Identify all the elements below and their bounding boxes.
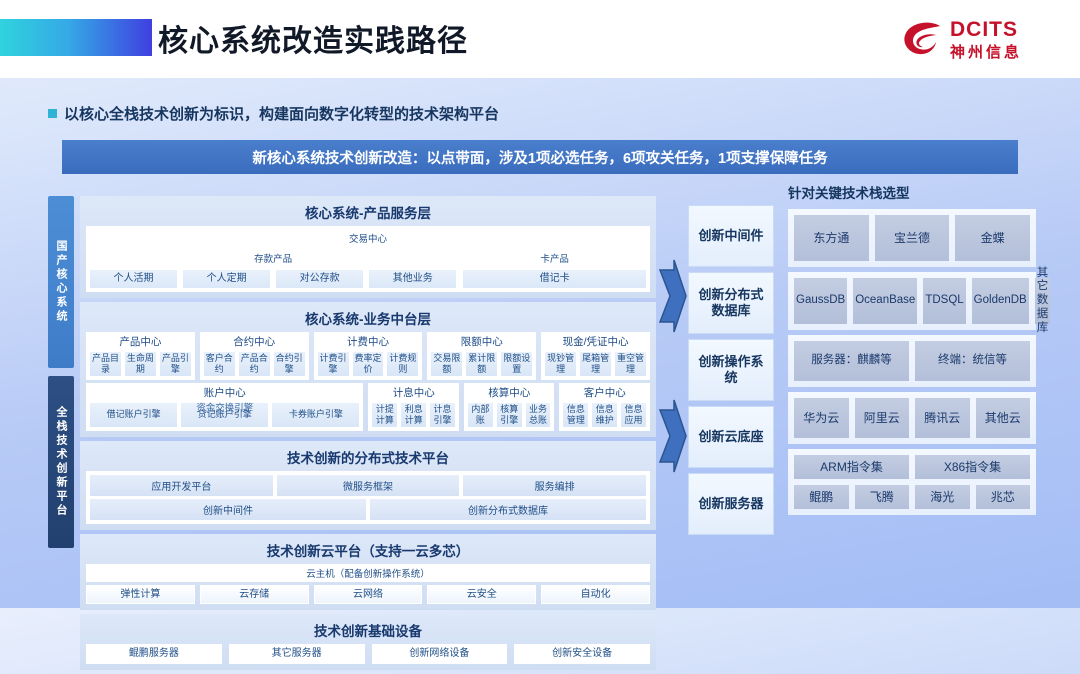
- middleware-vendor[interactable]: 宝兰德: [875, 215, 950, 261]
- center-item[interactable]: 借记账户引擎: [89, 402, 178, 428]
- innovation-column: 创新中间件 创新分布式数据库 创新操作系统 创新云底座 创新服务器: [688, 205, 774, 540]
- card-product-group: 卡产品 借记卡: [462, 249, 647, 289]
- center-name: 客户中心: [562, 385, 647, 400]
- innovation-item-database[interactable]: 创新分布式数据库: [688, 272, 774, 334]
- center-card-interest[interactable]: 计息中心 计提计算 利息计算 计息引擎: [368, 383, 459, 431]
- infrastructure-item[interactable]: 创新网络设备: [372, 644, 508, 664]
- database-vendor[interactable]: GaussDB: [794, 278, 847, 324]
- infrastructure-item[interactable]: 创新安全设备: [514, 644, 650, 664]
- card-group-label: 卡产品: [462, 249, 647, 267]
- cloud-vendor[interactable]: 华为云: [794, 398, 849, 438]
- center-item[interactable]: 重空管理: [614, 351, 647, 377]
- center-name: 计费中心: [317, 334, 420, 349]
- infrastructure-layer: 技术创新基础设备 鲲鹏服务器 其它服务器 创新网络设备 创新安全设备: [80, 614, 656, 670]
- header-gradient-bar: [0, 19, 152, 56]
- tech-platform-item[interactable]: 创新中间件: [90, 499, 366, 520]
- deposit-item[interactable]: 个人定期: [182, 269, 271, 289]
- architecture-panel: 国产核心系统 全栈技术创新平台 核心系统-产品服务层 交易中心 存款产品 个人活…: [48, 196, 656, 548]
- center-item[interactable]: 现钞管理: [544, 351, 577, 377]
- center-item[interactable]: 信息应用: [620, 402, 647, 428]
- distributed-tech-platform-title: 技术创新的分布式技术平台: [86, 447, 650, 467]
- center-item[interactable]: 累计限额: [465, 351, 498, 377]
- cloud-panel: 华为云 阿里云 腾讯云 其他云: [788, 392, 1036, 444]
- side-label-fullstack-platform: 全栈技术创新平台: [48, 376, 74, 548]
- product-service-layer: 核心系统-产品服务层 交易中心 存款产品 个人活期 个人定期 对公存款 其他业务: [80, 196, 656, 298]
- cloud-vendor[interactable]: 阿里云: [855, 398, 910, 438]
- business-middle-layer: 核心系统-业务中台层 产品中心 产品目录 生命周期 产品引擎 合约中心 客户合约…: [80, 302, 656, 437]
- distributed-tech-platform: 技术创新的分布式技术平台 应用开发平台 微服务框架 服务编排 创新中间件 创新分…: [80, 441, 656, 530]
- banner-text: 新核心系统技术创新改造：以点带面，涉及1项必选任务，6项攻关任务，1项支撑保障任…: [252, 147, 827, 168]
- logo-text-en: DCITS: [950, 18, 1018, 42]
- card-item[interactable]: 借记卡: [462, 269, 647, 289]
- innovation-item-server[interactable]: 创新服务器: [688, 473, 774, 535]
- center-card-contract[interactable]: 合约中心 客户合约 产品合约 合约引擎: [200, 332, 309, 380]
- innovation-item-middleware[interactable]: 创新中间件: [688, 205, 774, 267]
- business-middle-layer-title: 核心系统-业务中台层: [86, 308, 650, 328]
- cloud-platform: 技术创新云平台（支持一云多芯） 云主机（配备创新操作系统） 弹性计算 云存储 云…: [80, 534, 656, 611]
- center-item[interactable]: 产品目录: [89, 351, 122, 377]
- dcits-logo: DCITS 神州信息: [902, 17, 1042, 63]
- infrastructure-title: 技术创新基础设备: [86, 620, 650, 640]
- transaction-center-label: 交易中心: [89, 229, 647, 247]
- center-item[interactable]: 交易限额: [430, 351, 463, 377]
- center-item[interactable]: 计息引擎: [429, 402, 456, 428]
- centers-row-1: 产品中心 产品目录 生命周期 产品引擎 合约中心 客户合约 产品合约 合约引擎: [86, 332, 650, 380]
- instruction-set-arm[interactable]: ARM指令集: [794, 455, 909, 479]
- bullet-square-icon: [48, 109, 57, 118]
- tech-platform-item[interactable]: 应用开发平台: [90, 475, 273, 496]
- page-header: 核心系统改造实践路径 DCITS 神州信息: [0, 0, 1080, 78]
- center-item[interactable]: 计费引擎: [317, 351, 350, 377]
- database-vendor[interactable]: OceanBase: [853, 278, 917, 324]
- subtitle-bullet-row: 以核心全栈技术创新为标识，构建面向数字化转型的技术架构平台: [48, 103, 499, 124]
- page-title: 核心系统改造实践路径: [158, 16, 468, 60]
- center-name: 现金/凭证中心: [544, 334, 647, 349]
- cloud-item[interactable]: 自动化: [541, 585, 650, 605]
- os-panel: 服务器：麒麟等 终端：统信等: [788, 335, 1036, 387]
- center-item[interactable]: 业务总账: [525, 402, 552, 428]
- arrow-right-lower-icon: [658, 398, 688, 474]
- center-name: 产品中心: [89, 334, 192, 349]
- chip-vendor[interactable]: 海光: [915, 485, 970, 509]
- centers-row-2: 账户中心 借记账户引擎 贷记账户引擎 卡券账户引擎 资金交换引擎 计息中心 计提…: [86, 383, 650, 431]
- center-name: 限额中心: [430, 334, 533, 349]
- logo-text-cn: 神州信息: [950, 41, 1022, 62]
- chip-vendor[interactable]: 兆芯: [976, 485, 1031, 509]
- deposit-product-group: 存款产品 个人活期 个人定期 对公存款 其他业务: [89, 249, 457, 289]
- tech-platform-item[interactable]: 服务编排: [463, 475, 646, 496]
- center-item[interactable]: 费率定价: [352, 351, 385, 377]
- center-item[interactable]: 贷记账户引擎: [180, 402, 269, 428]
- logo-swoosh-icon: [902, 20, 944, 60]
- center-item[interactable]: 生命周期: [124, 351, 157, 377]
- center-card-limit[interactable]: 限额中心 交易限额 累计限额 限额设置: [427, 332, 536, 380]
- deposit-group-label: 存款产品: [89, 249, 457, 267]
- database-vendor[interactable]: GoldenDB: [972, 278, 1029, 324]
- center-item[interactable]: 卡券账户引擎: [271, 402, 360, 428]
- deposit-item[interactable]: 对公存款: [275, 269, 364, 289]
- deposit-item[interactable]: 其他业务: [368, 269, 457, 289]
- cloud-item[interactable]: 云网络: [314, 585, 423, 605]
- deposit-item[interactable]: 个人活期: [89, 269, 178, 289]
- os-vendor-server[interactable]: 服务器：麒麟等: [794, 341, 909, 381]
- middleware-panel: 东方通 宝兰德 金蝶: [788, 209, 1036, 267]
- cloud-host-label: 云主机（配备创新操作系统）: [86, 564, 650, 582]
- innovation-item-os[interactable]: 创新操作系统: [688, 339, 774, 401]
- center-name: 核算中心: [467, 385, 552, 400]
- center-item[interactable]: 产品引擎: [159, 351, 192, 377]
- instruction-set-x86[interactable]: X86指令集: [915, 455, 1030, 479]
- center-item[interactable]: 内部账: [467, 402, 494, 428]
- center-item[interactable]: 信息维护: [591, 402, 618, 428]
- cloud-platform-title: 技术创新云平台（支持一云多芯）: [86, 540, 650, 560]
- cloud-vendor[interactable]: 腾讯云: [915, 398, 970, 438]
- cloud-item[interactable]: 云安全: [427, 585, 536, 605]
- center-card-account[interactable]: 账户中心 借记账户引擎 贷记账户引擎 卡券账户引擎 资金交换引擎: [86, 383, 363, 431]
- product-service-layer-title: 核心系统-产品服务层: [86, 202, 650, 222]
- side-label-domestic-core: 国产核心系统: [48, 196, 74, 368]
- center-item[interactable]: 尾箱管理: [579, 351, 612, 377]
- center-item[interactable]: 核算引擎: [496, 402, 523, 428]
- database-panel: GaussDB OceanBase TDSQL GoldenDB 其它数据库: [788, 272, 1036, 330]
- center-item[interactable]: 信息管理: [562, 402, 589, 428]
- highlight-banner: 新核心系统技术创新改造：以点带面，涉及1项必选任务，6项攻关任务，1项支撑保障任…: [62, 140, 1018, 174]
- os-vendor-terminal[interactable]: 终端：统信等: [915, 341, 1030, 381]
- tech-platform-item[interactable]: 创新分布式数据库: [370, 499, 646, 520]
- middleware-vendor[interactable]: 金蝶: [955, 215, 1030, 261]
- infrastructure-item[interactable]: 鲲鹏服务器: [86, 644, 222, 664]
- tech-platform-item[interactable]: 微服务框架: [277, 475, 460, 496]
- cloud-item[interactable]: 弹性计算: [86, 585, 195, 605]
- infrastructure-item[interactable]: 其它服务器: [229, 644, 365, 664]
- center-item[interactable]: 计费规则: [386, 351, 419, 377]
- tech-stack-column: 针对关键技术栈选型 东方通 宝兰德 金蝶 GaussDB OceanBase T…: [788, 182, 1036, 520]
- center-item[interactable]: 利息计算: [400, 402, 427, 428]
- middleware-vendor[interactable]: 东方通: [794, 215, 869, 261]
- center-card-accounting[interactable]: 核算中心 内部账 核算引擎 业务总账: [464, 383, 555, 431]
- tech-stack-title: 针对关键技术栈选型: [788, 182, 1036, 202]
- subtitle-text: 以核心全栈技术创新为标识，构建面向数字化转型的技术架构平台: [64, 103, 499, 124]
- center-name: 计息中心: [371, 385, 456, 400]
- chip-vendor[interactable]: 飞腾: [855, 485, 910, 509]
- center-item[interactable]: 合约引擎: [273, 351, 306, 377]
- center-item[interactable]: 限额设置: [500, 351, 533, 377]
- database-vendor[interactable]: 其它数据库: [1035, 278, 1051, 324]
- cloud-item[interactable]: 云存储: [200, 585, 309, 605]
- product-service-layer-body: 交易中心 存款产品 个人活期 个人定期 对公存款 其他业务 卡产品: [86, 226, 650, 292]
- arrow-right-upper-icon: [658, 258, 688, 334]
- database-vendor[interactable]: TDSQL: [923, 278, 965, 324]
- chip-panel: ARM指令集 X86指令集 鲲鹏 飞腾 海光 兆芯: [788, 449, 1036, 515]
- architecture-body: 核心系统-产品服务层 交易中心 存款产品 个人活期 个人定期 对公存款 其他业务: [80, 196, 656, 674]
- center-item[interactable]: 产品合约: [238, 351, 271, 377]
- chip-vendor[interactable]: 鲲鹏: [794, 485, 849, 509]
- innovation-item-cloud[interactable]: 创新云底座: [688, 406, 774, 468]
- center-card-customer[interactable]: 客户中心 信息管理 信息维护 信息应用: [559, 383, 650, 431]
- center-name: 账户中心: [89, 385, 360, 400]
- center-name: 合约中心: [203, 334, 306, 349]
- distributed-tech-platform-body: 应用开发平台 微服务框架 服务编排 创新中间件 创新分布式数据库: [86, 471, 650, 524]
- center-card-billing[interactable]: 计费中心 计费引擎 费率定价 计费规则: [314, 332, 423, 380]
- center-card-cash-voucher[interactable]: 现金/凭证中心 现钞管理 尾箱管理 重空管理: [541, 332, 650, 380]
- center-card-product[interactable]: 产品中心 产品目录 生命周期 产品引擎: [86, 332, 195, 380]
- cloud-vendor[interactable]: 其他云: [976, 398, 1031, 438]
- center-item[interactable]: 计提计算: [371, 402, 398, 428]
- center-item[interactable]: 客户合约: [203, 351, 236, 377]
